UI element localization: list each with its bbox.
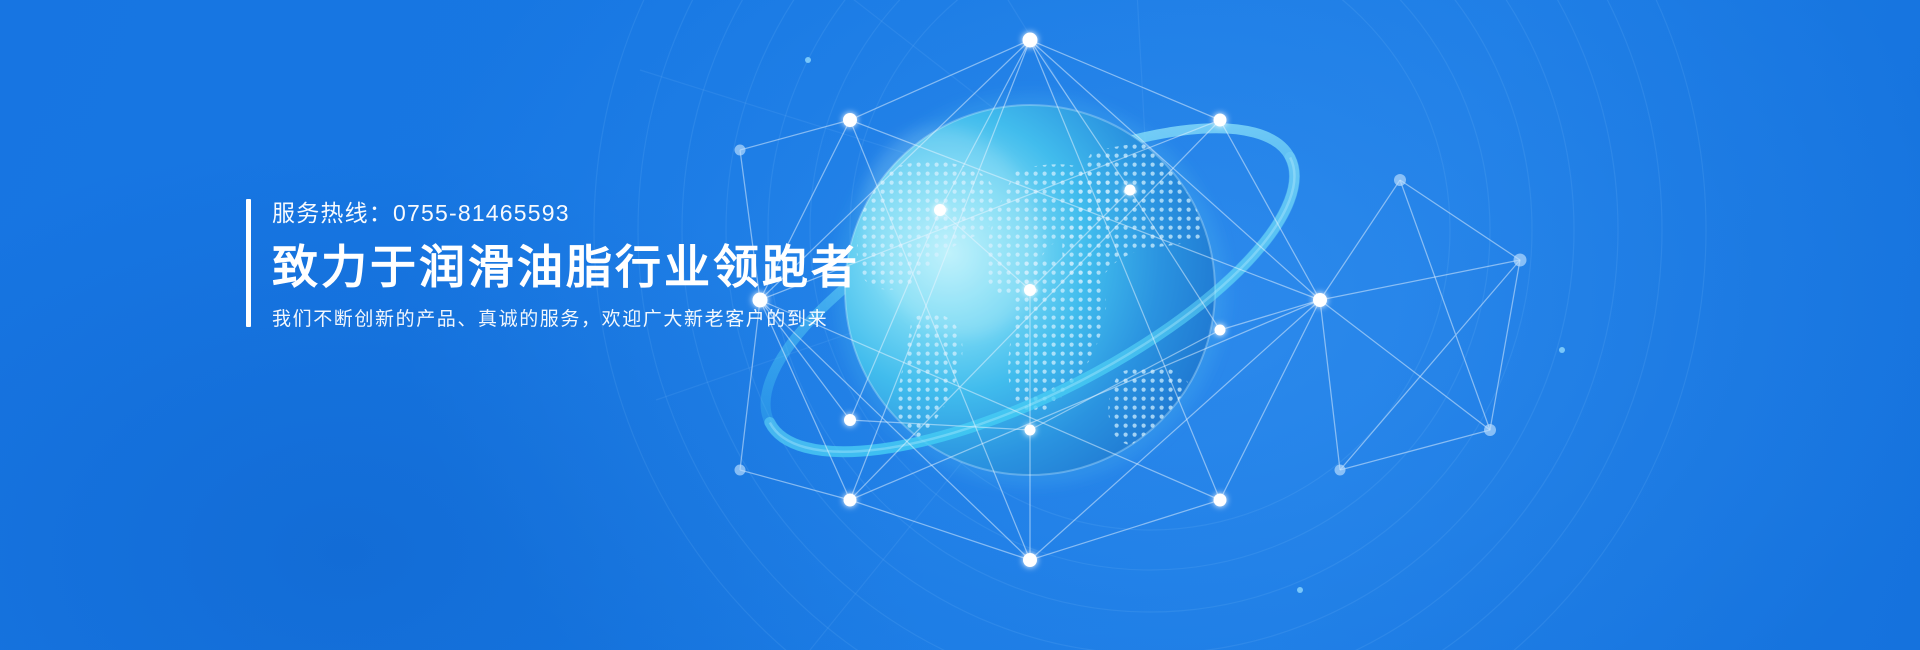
banner-text-block: 服务热线：0755-81465593 致力于润滑油脂行业领跑者 我们不断创新的产… xyxy=(246,196,1006,335)
hero-banner: 服务热线：0755-81465593 致力于润滑油脂行业领跑者 我们不断创新的产… xyxy=(0,0,1920,650)
accent-bar xyxy=(246,199,251,327)
service-hotline: 服务热线：0755-81465593 xyxy=(272,196,1006,230)
banner-headline: 致力于润滑油脂行业领跑者 xyxy=(272,236,1006,298)
banner-subheadline: 我们不断创新的产品、真诚的服务，欢迎广大新老客户的到来 xyxy=(272,305,1006,335)
